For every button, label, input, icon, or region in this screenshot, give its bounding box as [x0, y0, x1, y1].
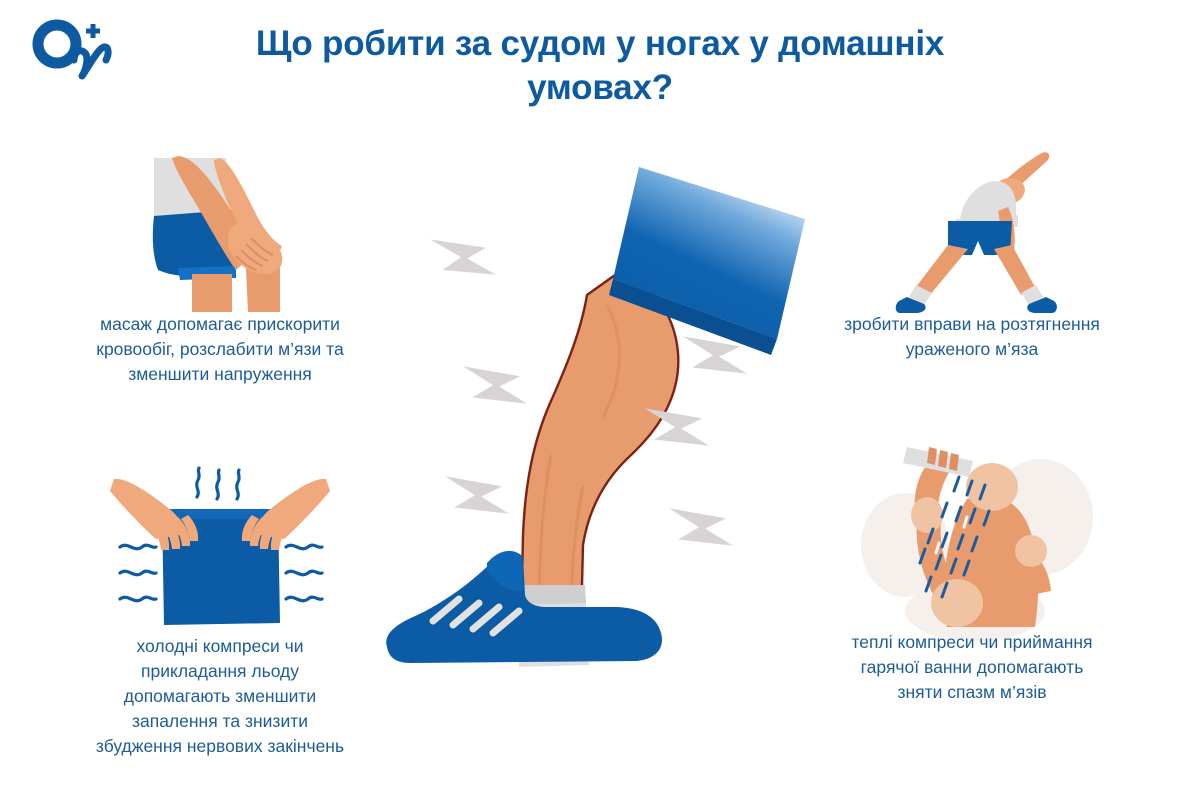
pain-bolt-icon	[669, 502, 733, 552]
stretch-illustration	[890, 145, 1065, 313]
infographic-canvas: Що робити за судом у ногах у домашніх ум…	[0, 0, 1200, 800]
leg-shape	[521, 270, 678, 625]
caption-warm-line-3: зняти спазм м’язів	[800, 680, 1144, 705]
massage-illustration-svg	[140, 150, 330, 312]
page-title-line-2: умовах?	[190, 66, 1010, 110]
cold-compress-illustration-svg	[100, 455, 340, 633]
caption-cold-line-5: збудження нервових закінчень	[40, 734, 400, 759]
caption-massage-line-2: кровообіг, розслабити м’язи та	[48, 337, 392, 362]
page-title-line-1: Що робити за судом у ногах у домашніх	[190, 22, 1010, 66]
caption-massage: масаж допомагає прискорити кровообіг, ро…	[48, 312, 392, 387]
caption-massage-line-3: зменшити напруження	[48, 362, 392, 387]
cold-steam-icon	[197, 468, 239, 499]
logo-svg	[30, 18, 122, 88]
caption-cold-line-2: прикладання льоду	[40, 659, 400, 684]
massage-illustration	[140, 150, 330, 312]
shoulder-highlight	[911, 497, 943, 533]
cramping-leg-illustration	[375, 155, 805, 675]
caption-warm-line-2: гарячої ванни допомагають	[800, 655, 1144, 680]
pain-bolt-icon	[463, 360, 527, 410]
elbow-highlight	[1015, 535, 1047, 567]
caption-cold-compress: холодні компреси чи прикладання льоду до…	[40, 634, 400, 759]
cold-waves-left-icon	[120, 545, 156, 601]
caption-stretch-line-2: ураженого м’яза	[800, 337, 1144, 362]
stretch-illustration-svg	[890, 145, 1065, 313]
page-title: Що робити за судом у ногах у домашніх ум…	[190, 22, 1010, 110]
warm-shower-illustration	[855, 425, 1095, 627]
sock-cuff-shape	[520, 585, 586, 605]
on-plus-logo	[30, 18, 122, 88]
compress-pack-top-shape	[162, 509, 278, 519]
cold-waves-right-icon	[286, 545, 322, 601]
logo-plus-icon	[86, 24, 100, 38]
caption-cold-line-4: запалення та знизити	[40, 709, 400, 734]
caption-warm-compress: теплі компреси чи приймання гарячої ванн…	[800, 630, 1144, 705]
logo-letter-n-icon	[74, 47, 108, 76]
warm-shower-illustration-svg	[855, 425, 1095, 627]
caption-warm-line-1: теплі компреси чи приймання	[800, 630, 1144, 655]
pain-bolt-icon	[430, 231, 496, 283]
front-leg-shape	[192, 274, 232, 312]
caption-stretch-line-1: зробити вправи на розтягнення	[800, 312, 1144, 337]
cold-compress-illustration	[100, 455, 340, 633]
hip-highlight	[931, 579, 983, 627]
logo-letter-o-icon	[38, 25, 76, 63]
pain-bolt-icon	[445, 470, 509, 520]
cramping-leg-svg	[375, 155, 805, 675]
caption-cold-line-1: холодні компреси чи	[40, 634, 400, 659]
right-leg-shape	[994, 245, 1035, 295]
head-shape	[966, 463, 1018, 511]
left-leg-shape	[916, 245, 968, 295]
caption-stretch: зробити вправи на розтягнення ураженого …	[800, 312, 1144, 362]
caption-cold-line-3: допомагають зменшити	[40, 684, 400, 709]
caption-massage-line-1: масаж допомагає прискорити	[48, 312, 392, 337]
